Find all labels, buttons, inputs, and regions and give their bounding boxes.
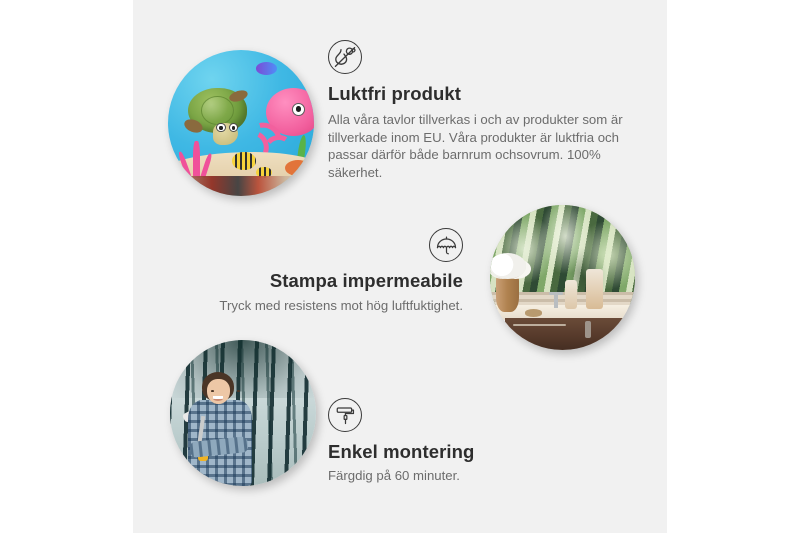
striped-fish-large xyxy=(232,152,255,170)
wooden-vanity xyxy=(505,318,636,350)
feature-image-odourless xyxy=(168,50,314,196)
bottle-small xyxy=(565,280,577,309)
bottle-large xyxy=(586,269,603,310)
blue-fish xyxy=(256,62,278,75)
feature-title: Stampa impermeabile xyxy=(193,270,463,292)
feature-title: Enkel montering xyxy=(328,441,608,463)
feature-image-waterproof xyxy=(490,205,635,350)
feature-title: Luktfri produkt xyxy=(328,83,628,105)
feature-body: Alla våra tavlor tillverkas i och av pro… xyxy=(328,111,628,181)
starfish xyxy=(285,160,311,176)
bathroom-photo xyxy=(490,205,635,350)
soap-dish xyxy=(525,309,542,316)
faucet xyxy=(554,292,558,308)
umbrella-icon xyxy=(429,228,463,262)
white-flowers xyxy=(490,253,526,279)
turtle-eye-left xyxy=(216,123,225,132)
page-root: Luktfri produkt Alla våra tavlor tillver… xyxy=(0,0,800,533)
woman-painter-photo xyxy=(170,340,316,486)
no-smell-icon xyxy=(328,40,362,74)
forest-canopy xyxy=(170,340,316,398)
feature-block-odourless: Luktfri produkt Alla våra tavlor tillver… xyxy=(328,40,628,181)
room-strip xyxy=(168,176,314,196)
feature-block-mounting: Enkel montering Färgdig på 60 minuter. xyxy=(328,398,608,485)
icon-wrapper xyxy=(193,228,463,262)
feature-image-mounting xyxy=(170,340,316,486)
woman-face xyxy=(207,379,230,404)
octopus-eye xyxy=(292,103,305,116)
feature-body: Tryck med resistens mot hög luftfuktighe… xyxy=(193,297,463,315)
coral xyxy=(174,135,221,179)
feature-block-waterproof: Stampa impermeabile Tryck med resistens … xyxy=(193,228,463,315)
ocean-illustration xyxy=(168,50,314,196)
paint-roller-icon xyxy=(328,398,362,432)
feature-body: Färgdig på 60 minuter. xyxy=(328,467,608,485)
content-panel: Luktfri produkt Alla våra tavlor tillver… xyxy=(133,0,667,533)
